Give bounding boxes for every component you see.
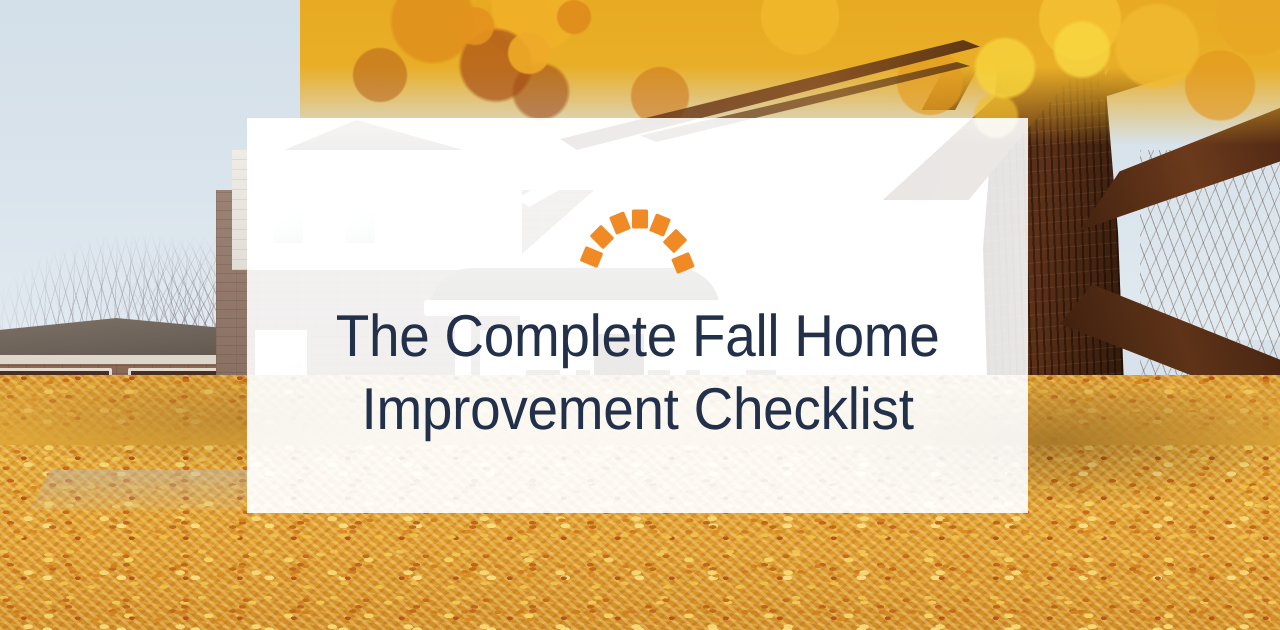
title-overlay-panel: The Complete Fall Home Improvement Check… [247, 118, 1028, 513]
hero-banner: The Complete Fall Home Improvement Check… [0, 0, 1280, 630]
yellow-leaf-patch-2 [1046, 0, 1126, 110]
page-title: The Complete Fall Home Improvement Check… [336, 300, 940, 446]
driveway-walkway [29, 470, 260, 510]
sunburst-arc-logo [578, 200, 698, 278]
maple-leaf-cluster [430, 0, 610, 80]
